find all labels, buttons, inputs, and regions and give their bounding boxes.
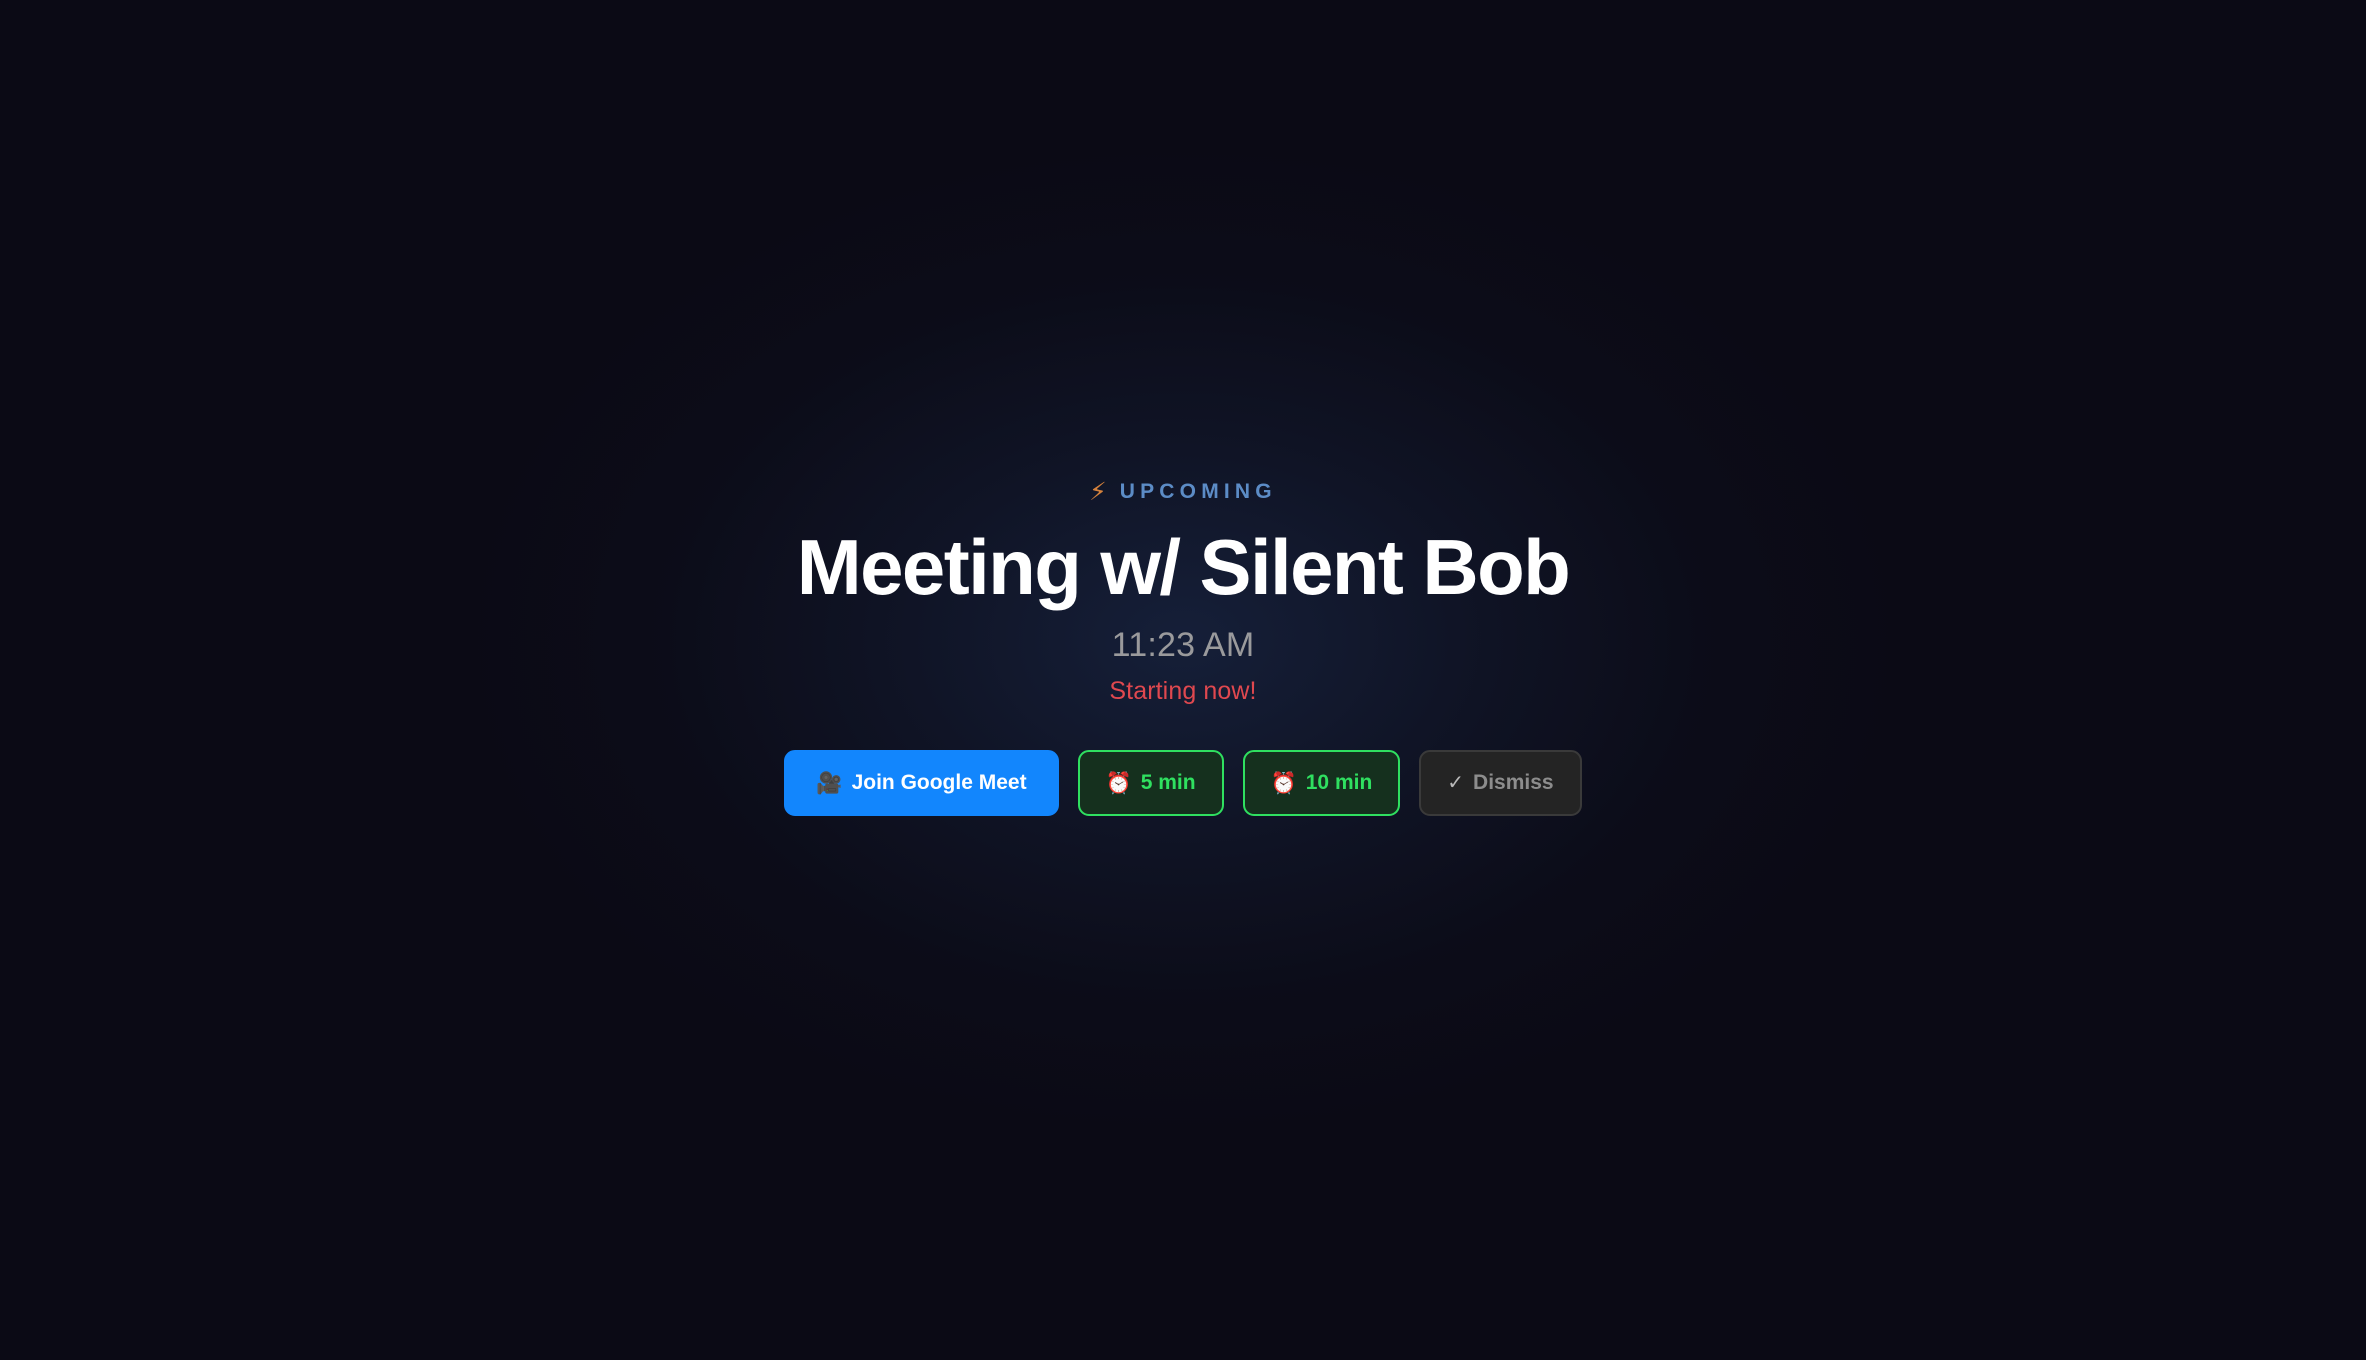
notification-stage: ⚡ UPCOMING Meeting w/ Silent Bob 11:23 A… [0,0,2366,1360]
dismiss-label: Dismiss [1473,771,1554,795]
snooze-5-min-button[interactable]: ⏰ 5 min [1078,750,1224,816]
alarm-clock-icon: ⏰ [1271,773,1297,794]
meeting-title: Meeting w/ Silent Bob [797,527,1569,608]
meeting-time: 11:23 AM [1112,626,1255,665]
upcoming-badge: ⚡ UPCOMING [1089,480,1277,505]
join-google-meet-button[interactable]: 🎥 Join Google Meet [784,750,1058,816]
dismiss-button[interactable]: ✓ Dismiss [1419,750,1581,816]
join-google-meet-label: Join Google Meet [852,771,1027,795]
lightning-bolt-icon: ⚡ [1089,480,1107,505]
snooze-5-min-label: 5 min [1141,771,1196,795]
snooze-10-min-button[interactable]: ⏰ 10 min [1243,750,1401,816]
checkmark-icon: ✓ [1447,773,1464,793]
video-camera-icon: 🎥 [816,773,842,794]
snooze-10-min-label: 10 min [1306,771,1373,795]
meeting-reminder-card: ⚡ UPCOMING Meeting w/ Silent Bob 11:23 A… [483,480,1883,816]
action-buttons-row: 🎥 Join Google Meet ⏰ 5 min ⏰ 10 min ✓ Di… [784,750,1581,816]
meeting-status: Starting now! [1109,677,1256,706]
upcoming-label: UPCOMING [1120,480,1277,504]
alarm-clock-icon: ⏰ [1106,773,1132,794]
